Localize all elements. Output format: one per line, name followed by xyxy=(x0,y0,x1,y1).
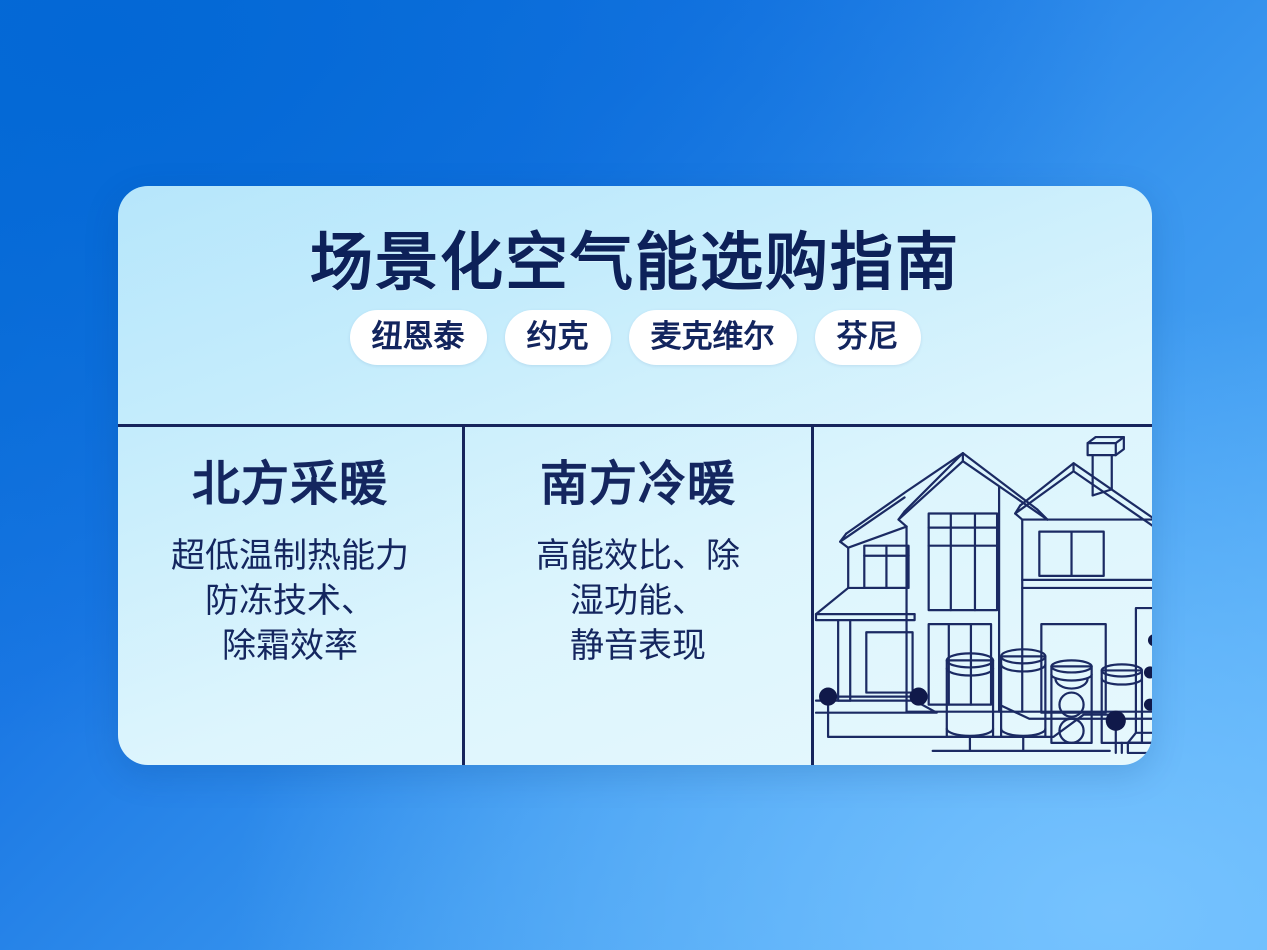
brand-pill-4[interactable]: 芬尼 xyxy=(815,310,921,365)
column-north-heating: 北方采暖 超低温制热能力 防冻技术、 除霜效率 xyxy=(118,427,462,765)
brand-pill-1[interactable]: 纽恩泰 xyxy=(350,310,487,365)
brand-pill-row: 纽恩泰 约克 麦克维尔 芬尼 xyxy=(350,310,921,365)
column-illustration xyxy=(814,427,1152,765)
column-description-north: 超低温制热能力 防冻技术、 除霜效率 xyxy=(163,534,417,669)
card-header: 场景化空气能选购指南 纽恩泰 约克 麦克维尔 芬尼 xyxy=(118,186,1152,424)
page-title: 场景化空气能选购指南 xyxy=(310,230,960,296)
card-body: 北方采暖 超低温制热能力 防冻技术、 除霜效率 南方冷暖 高能效比、除 湿功能、… xyxy=(118,427,1152,765)
house-heat-pump-icon xyxy=(814,427,1152,765)
column-heading-north: 北方采暖 xyxy=(192,459,388,512)
column-description-south: 高能效比、除 湿功能、 静音表现 xyxy=(528,534,748,669)
poster-canvas: 场景化空气能选购指南 纽恩泰 约克 麦克维尔 芬尼 北方采暖 超低温制热能力 防… xyxy=(0,0,1267,950)
brand-pill-2[interactable]: 约克 xyxy=(505,310,611,365)
column-heading-south: 南方冷暖 xyxy=(540,459,736,512)
guide-card: 场景化空气能选购指南 纽恩泰 约克 麦克维尔 芬尼 北方采暖 超低温制热能力 防… xyxy=(118,186,1152,765)
brand-pill-3[interactable]: 麦克维尔 xyxy=(629,310,797,365)
column-south-cooling-heating: 南方冷暖 高能效比、除 湿功能、 静音表现 xyxy=(465,427,811,765)
